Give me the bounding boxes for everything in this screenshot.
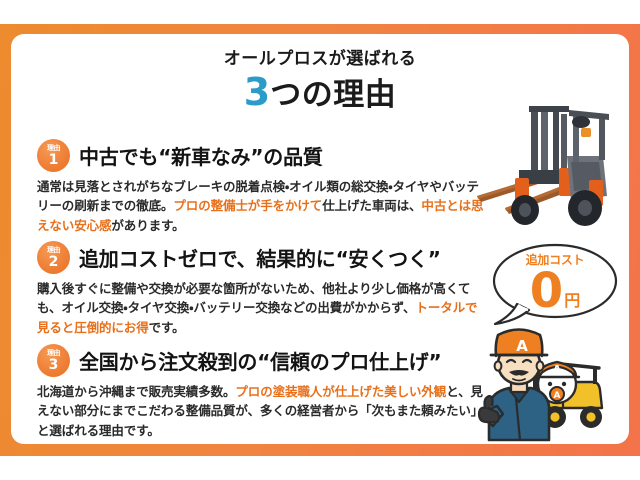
body-text: 北海道から沖縄まで販売実績多数。 — [37, 384, 235, 399]
reason-badge-3: 理由 3 — [37, 344, 70, 377]
header-reason-count: 3 — [244, 70, 270, 114]
speech-bubble-shape — [491, 242, 619, 328]
body-text: 仕上げた車両は、 — [322, 198, 421, 213]
reason-block-1: 理由 1 中古でも“新車なみ”の品質 通常は見落とされがちなブレーキの脱着点検・… — [37, 139, 489, 235]
reason-block-3: 理由 3 全国から注文殺到の“信頼のプロ仕上げ” 北海道から沖縄まで販売実績多数… — [37, 344, 489, 440]
cost-speech-bubble: 追加コスト 0 円 — [491, 242, 619, 328]
reason-title-1: 中古でも“新車なみ”の品質 — [79, 141, 323, 170]
body-text: があります。 — [111, 218, 184, 233]
badge-number: 3 — [49, 358, 59, 372]
highlighted-text: プロの整備士が手をかけて — [173, 198, 322, 213]
highlighted-text: プロの塗装職人が仕上げた美しい外観 — [235, 384, 446, 399]
reason-header-2: 理由 2 追加コストゼロで、結果的に“安くつく” — [37, 241, 489, 274]
snow-helmet-letter: A — [553, 363, 562, 376]
header-main-suffix: つの理由 — [270, 77, 396, 113]
reason-header-1: 理由 1 中古でも“新車なみ”の品質 — [37, 139, 489, 172]
badge-label: 理由 — [47, 350, 60, 357]
promo-card: オールプロスが選ばれる 3つの理由 理由 1 中古でも“新車なみ”の品質 通常は… — [11, 34, 629, 444]
reason-title-2: 追加コストゼロで、結果的に“安くつく” — [79, 243, 441, 272]
reason-badge-1: 理由 1 — [37, 139, 70, 172]
badge-label: 理由 — [47, 145, 60, 152]
reason-header-3: 理由 3 全国から注文殺到の“信頼のプロ仕上げ” — [37, 344, 489, 377]
badge-number: 1 — [49, 153, 59, 167]
snow-body-letter: A — [554, 391, 561, 401]
body-text: です。 — [149, 320, 185, 335]
reason-block-2: 理由 2 追加コストゼロで、結果的に“安くつく” 購入後すぐに整備や交換が必要な… — [37, 241, 489, 337]
mechanic-mascot-illustration: A A — [475, 322, 627, 442]
badge-label: 理由 — [47, 247, 60, 254]
forklift-photo — [475, 92, 623, 240]
reason-title-3: 全国から注文殺到の“信頼のプロ仕上げ” — [79, 346, 442, 375]
reason-body-1: 通常は見落とされがちなブレーキの脱着点検・オイル類の総交換・タイヤやバッテリーの… — [37, 177, 489, 235]
reason-body-3: 北海道から沖縄まで販売実績多数。プロの塗装職人が仕上げた美しい外観と、見えない部… — [37, 382, 489, 440]
reason-body-2: 購入後すぐに整備や交換が必要な箇所がないため、他社より少し価格が高くても、オイル… — [37, 279, 489, 337]
header-subtitle: オールプロスが選ばれる — [11, 50, 629, 69]
helmet-letter: A — [516, 337, 528, 355]
promo-banner: オールプロスが選ばれる 3つの理由 理由 1 中古でも“新車なみ”の品質 通常は… — [0, 24, 640, 456]
body-text: 購入後すぐに整備や交換が必要な箇所がないため、他社より少し価格が高くても、オイル… — [37, 281, 470, 315]
reason-badge-2: 理由 2 — [37, 241, 70, 274]
badge-number: 2 — [49, 255, 59, 269]
